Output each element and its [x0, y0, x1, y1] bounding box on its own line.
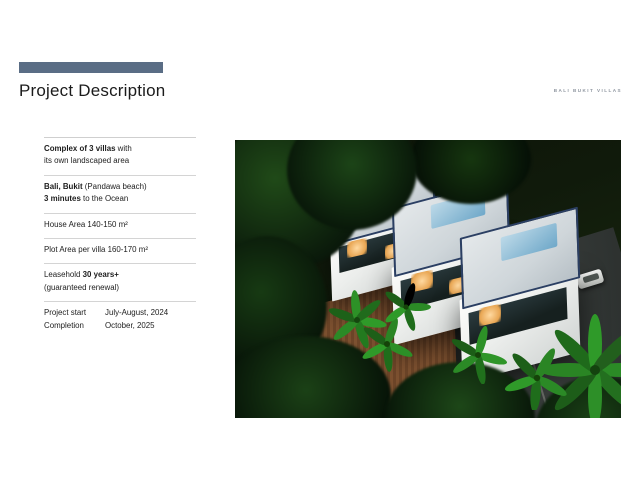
spec-leasehold-line1: Leasehold 30 years+	[44, 269, 196, 281]
spec-list: Complex of 3 villas with its own landsca…	[44, 137, 196, 339]
spec-row-location: Bali, Bukit (Pandawa beach) 3 minutes to…	[44, 175, 196, 213]
spec-minutes-bold: 3 minutes	[44, 194, 81, 203]
spec-complex-line1: Complex of 3 villas with	[44, 143, 196, 155]
spec-location-bold: Bali, Bukit	[44, 182, 83, 191]
spec-complex-line2: its own landscaped area	[44, 155, 196, 167]
timeline-completion-label: Completion	[44, 320, 105, 332]
brand-label: BALI BUKIT VILLAS	[554, 88, 622, 93]
spec-row-timeline: Project start July-August, 2024 Completi…	[44, 301, 196, 339]
spec-leasehold-pre: Leasehold	[44, 270, 83, 279]
spec-location-line1: Bali, Bukit (Pandawa beach)	[44, 181, 196, 193]
spec-location-rest: (Pandawa beach)	[83, 182, 147, 191]
spec-house-area: House Area 140-150 m²	[44, 219, 196, 231]
spec-leasehold-bold: 30 years+	[83, 270, 119, 279]
timeline-row-completion: Completion October, 2025	[44, 320, 196, 332]
spec-complex-bold: Complex of 3 villas	[44, 144, 115, 153]
timeline-start-value: July-August, 2024	[105, 307, 168, 319]
palm-tree-3	[381, 282, 431, 332]
spec-complex-rest: with	[115, 144, 131, 153]
spec-row-plot-area: Plot Area per villa 160-170 m²	[44, 238, 196, 263]
spec-row-leasehold: Leasehold 30 years+ (guaranteed renewal)	[44, 263, 196, 301]
accent-bar	[19, 62, 163, 73]
palm-tree-4	[449, 326, 507, 384]
timeline-completion-value: October, 2025	[105, 320, 155, 332]
timeline-start-label: Project start	[44, 307, 105, 319]
spec-location-line2: 3 minutes to the Ocean	[44, 193, 196, 205]
project-render-image	[235, 140, 621, 418]
spec-row-house-area: House Area 140-150 m²	[44, 213, 196, 238]
spec-row-complex: Complex of 3 villas with its own landsca…	[44, 137, 196, 175]
page-title: Project Description	[19, 81, 165, 101]
slide: Project Description BALI BUKIT VILLAS Co…	[0, 0, 640, 480]
spec-minutes-rest: to the Ocean	[81, 194, 128, 203]
palm-tree-5	[505, 346, 569, 410]
spec-leasehold-line2: (guaranteed renewal)	[44, 282, 196, 294]
timeline-row-start: Project start July-August, 2024	[44, 307, 196, 319]
spec-plot-area: Plot Area per villa 160-170 m²	[44, 244, 196, 256]
